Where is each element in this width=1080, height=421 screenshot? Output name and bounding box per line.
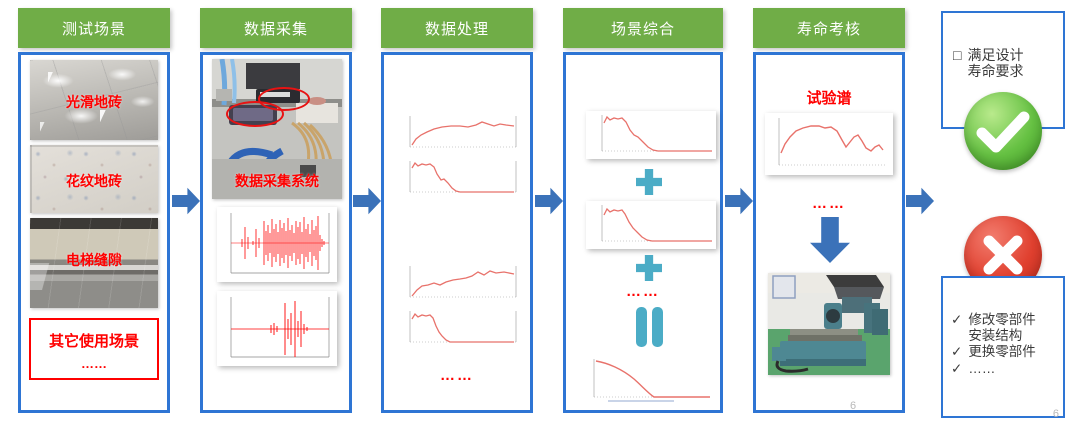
column-life-assessment: 寿命考核 试验谱 ……	[753, 0, 905, 421]
combined-curve	[578, 355, 716, 407]
green-check-badge	[964, 92, 1042, 170]
plus-symbol-1	[636, 169, 662, 195]
column-body-result: □ 满足设计 寿命要求	[938, 8, 1068, 413]
other-scenarios-dots: ……	[31, 356, 157, 371]
column-header-data-processing: 数据处理	[381, 8, 533, 48]
flow-arrow-5	[906, 186, 934, 216]
column-header-scenario-synthesis: 场景综合	[563, 8, 723, 48]
plus-symbol-2	[636, 255, 662, 281]
rising-curve-1	[396, 113, 522, 155]
photo-caption-smooth-tile: 光滑地砖	[30, 92, 158, 112]
corrective-action-text-line-3: 更换零部件	[968, 344, 1036, 360]
corrective-action-text-line-1: 修改零部件	[968, 312, 1036, 328]
flow-arrow-1	[172, 186, 200, 216]
column-data-acquisition: 数据采集	[200, 0, 352, 421]
decay-curve-2	[396, 308, 522, 350]
flow-arrow-4	[725, 186, 753, 216]
flowchart-canvas: 测试场景 光滑地砖 花纹地砖 电梯缝隙 其它使用场景 …… 数据采集	[0, 0, 1080, 421]
photo-caption-daq-system: 数据采集系统	[212, 171, 342, 191]
page-number-2: 6	[1053, 408, 1059, 420]
test-spectrum	[765, 113, 893, 175]
decay-curve-a	[586, 111, 716, 159]
column-result: □ 满足设计 寿命要求	[938, 0, 1068, 421]
rising-curve-2	[396, 263, 522, 305]
page-number-1: 6	[850, 400, 856, 412]
other-scenarios-label: 其它使用场景	[31, 330, 157, 351]
photo-caption-elevator-gap: 电梯缝隙	[30, 250, 158, 270]
corrective-action-item: ✓ 修改零部件 安装结构	[951, 312, 1063, 343]
column-body-scenario-synthesis: ……	[563, 52, 723, 413]
life-assessment-dots: ……	[756, 195, 902, 212]
pass-criteria-text-line-2: 寿命要求	[967, 63, 1023, 79]
annotation-ellipse-tablet	[226, 101, 284, 127]
corrective-actions-list: ✓ 修改零部件 安装结构 ✓ 更换零部件 ✓ ……	[951, 312, 1063, 376]
decay-curve-1	[396, 158, 522, 200]
pass-criteria-line: □ 满足设计 寿命要求	[953, 47, 1063, 79]
photo-elevator-gap: 电梯缝隙	[30, 218, 158, 308]
column-scenario-synthesis: 场景综合 ……	[563, 0, 723, 421]
signal-plot-broadband	[217, 207, 337, 282]
column-body-data-acquisition: 数据采集系统	[200, 52, 352, 413]
signal-plot-impulse	[217, 291, 337, 366]
scenario-synthesis-dots: ……	[566, 283, 720, 300]
photo-caption-patterned-tile: 花纹地砖	[30, 171, 158, 191]
column-test-scenario: 测试场景 光滑地砖 花纹地砖 电梯缝隙 其它使用场景 ……	[18, 0, 170, 421]
pass-criteria-text-line-1: 满足设计	[967, 47, 1023, 63]
decay-curve-b	[586, 201, 716, 249]
check-marker-icon: ✓	[951, 344, 962, 360]
photo-smooth-tile: 光滑地砖	[30, 60, 158, 140]
check-marker-icon: ✓	[951, 312, 962, 328]
column-header-data-acquisition: 数据采集	[200, 8, 352, 48]
other-scenarios-box: 其它使用场景 ……	[29, 318, 159, 380]
column-header-life-assessment: 寿命考核	[753, 8, 905, 48]
down-arrow-to-equipment	[810, 217, 850, 263]
flow-arrow-3	[535, 186, 563, 216]
corrective-action-text-line-2: 安装结构	[968, 328, 1036, 344]
photo-data-acquisition-system: 数据采集系统	[212, 59, 342, 199]
corrective-action-item: ✓ 更换零部件	[951, 344, 1063, 360]
test-spectrum-label: 试验谱	[756, 87, 902, 108]
column-body-life-assessment: 试验谱 ……	[753, 52, 905, 413]
column-header-test-scenario: 测试场景	[18, 8, 170, 48]
corrective-actions-box: ✓ 修改零部件 安装结构 ✓ 更换零部件 ✓ ……	[941, 276, 1065, 418]
check-marker-icon: ✓	[951, 361, 962, 377]
column-body-test-scenario: 光滑地砖 花纹地砖 电梯缝隙 其它使用场景 ……	[18, 52, 170, 413]
data-processing-dots: ……	[384, 367, 530, 384]
column-body-data-processing: ……	[381, 52, 533, 413]
photo-patterned-tile: 花纹地砖	[30, 145, 158, 213]
flow-arrow-2	[353, 186, 381, 216]
equals-symbol	[636, 307, 663, 347]
corrective-action-dots: ……	[968, 361, 995, 377]
corrective-action-item: ✓ ……	[951, 361, 1063, 377]
square-marker-icon: □	[953, 47, 961, 63]
photo-shaker-test-bench	[768, 273, 890, 375]
column-data-processing: 数据处理	[381, 0, 533, 421]
